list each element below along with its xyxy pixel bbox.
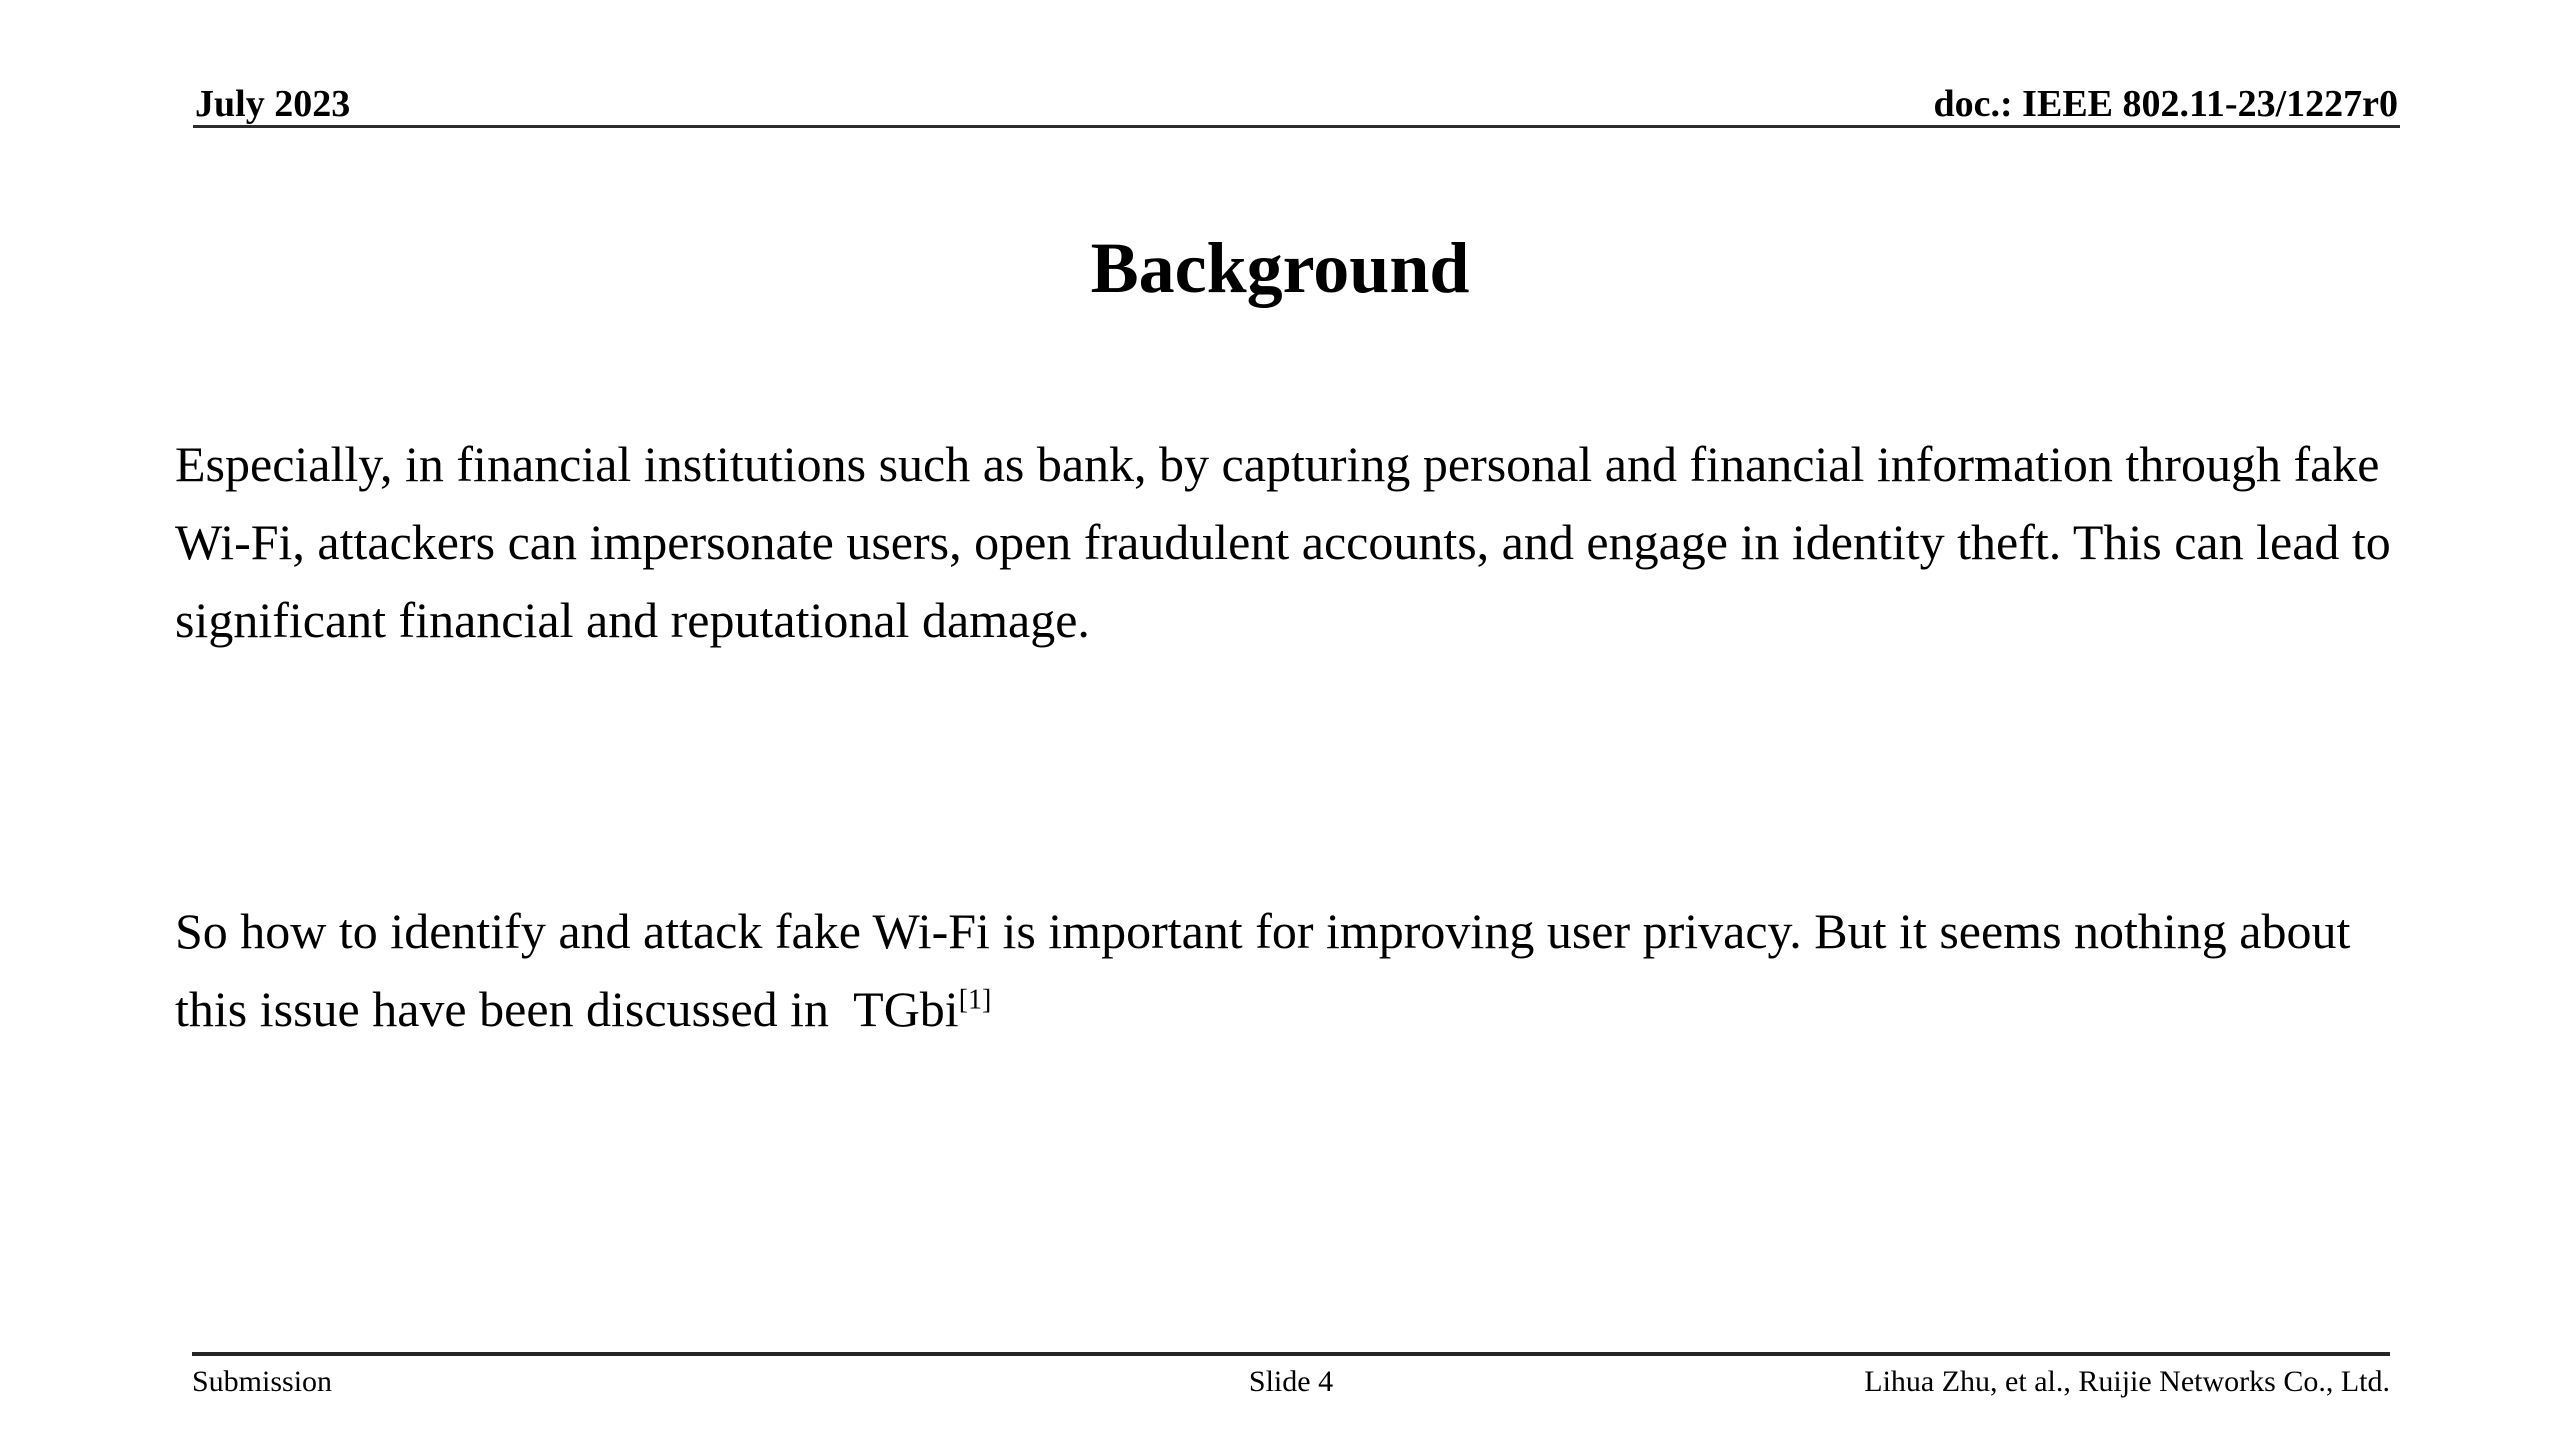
slide-canvas: July 2023 doc.: IEEE 802.11-23/1227r0 Ba… [0,0,2560,1440]
footer-author-affiliation: Lihua Zhu, et al., Ruijie Networks Co., … [1864,1358,2390,1406]
header-document-id: doc.: IEEE 802.11-23/1227r0 [1934,82,2398,126]
footer-submission-label: Submission [192,1358,332,1406]
slide-body: Especially, in financial institutions su… [175,425,2435,1048]
footer-row: Submission Slide 4 Lihua Zhu, et al., Ru… [192,1358,2390,1414]
paragraph-spacer [175,659,2435,892]
footer-slide-number: Slide 4 [1249,1358,1333,1406]
header-row: July 2023 doc.: IEEE 802.11-23/1227r0 [193,58,2400,126]
reference-superscript: [1] [959,984,992,1015]
body-paragraph-2-text: So how to identify and attack fake Wi-Fi… [175,903,2363,1037]
body-paragraph-1: Especially, in financial institutions su… [175,425,2435,659]
body-paragraph-2: So how to identify and attack fake Wi-Fi… [175,892,2435,1048]
footer-divider [192,1352,2390,1356]
header-date: July 2023 [195,82,350,126]
page-title: Background [0,225,2560,311]
header-divider [193,125,2400,128]
slide-header: July 2023 doc.: IEEE 802.11-23/1227r0 [193,58,2400,130]
